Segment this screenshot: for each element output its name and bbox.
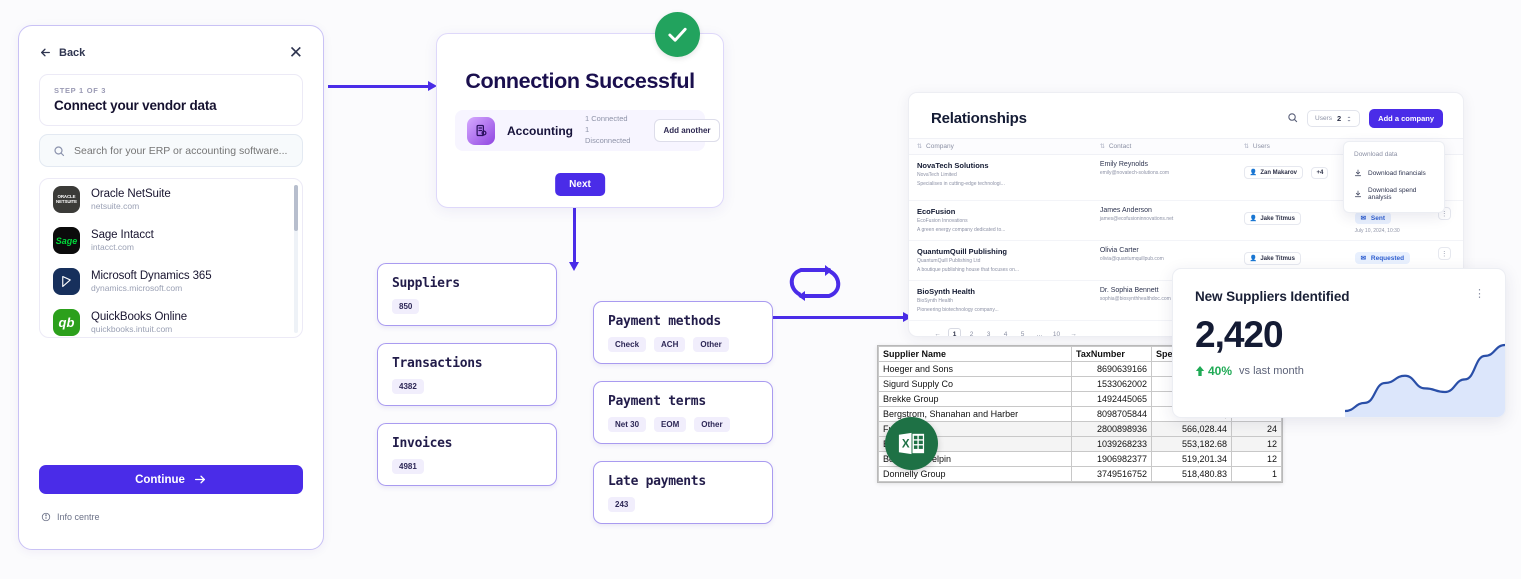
cell-spend[interactable]: 553,182.68 [1152,437,1232,452]
sheet-col-supplier-name[interactable]: Supplier Name [879,347,1072,362]
step-title: Connect your vendor data [54,98,288,113]
contact-name: James Anderson [1100,207,1228,214]
search-glyph [1287,112,1298,123]
next-button[interactable]: Next [555,173,605,196]
vendor-url: intacct.com [91,242,154,252]
back-button[interactable]: Back [39,46,85,59]
company-name: BioSynth Health [917,287,1084,296]
step-counter: STEP 1 OF 3 [54,86,288,95]
chip: Net 30 [608,417,646,432]
scrollbar-thumb[interactable] [294,185,298,231]
sheet-col-tax-number[interactable]: TaxNumber [1072,347,1152,362]
menu-item-label: Download financials [1368,170,1426,177]
accounting-app-icon [467,117,495,145]
page-prev-icon[interactable]: ← [931,328,944,337]
header-tools: Users 2 Add a company [1287,109,1443,128]
quickbooks-icon: qb [53,309,80,336]
connection-success-card: Connection Successful Accounting 1 Conne… [436,33,724,208]
page-10[interactable]: 10 [1050,328,1063,337]
company-desc: Pioneering biotechnology company... [917,307,1084,315]
user-pill[interactable]: 👤Jake Titmus [1244,252,1301,265]
kpi-title: New Suppliers Identified [1173,269,1505,304]
sage-icon: Sage [53,227,80,254]
excel-icon: X [885,417,938,470]
connector-success-to-cards [573,208,576,264]
arrow-right-icon [194,474,207,485]
column-header-users[interactable]: ⇅Users [1236,139,1347,155]
svg-text:X: X [902,437,910,450]
chip: 4382 [392,379,424,394]
vendor-name: QuickBooks Online [91,311,187,323]
list-scrollbar[interactable] [294,185,298,333]
cell-tax[interactable]: 3749516752 [1072,467,1152,482]
cell-spend[interactable]: 566,028.44 [1152,422,1232,437]
status-badge: ✉ Requested [1355,252,1411,264]
card-title: Late payments [608,474,758,489]
cell-spend[interactable]: 518,480.83 [1152,467,1232,482]
dynamics-glyph [59,274,74,289]
search-field[interactable] [39,134,303,167]
sage-mark: Sage [56,236,78,246]
chevron-updown-icon [1346,116,1352,122]
cell-company: BioSynth Health BioSynth Health Pioneeri… [909,281,1092,321]
step-banner: STEP 1 OF 3 Connect your vendor data [39,74,303,126]
add-another-button[interactable]: Add another [654,119,719,142]
excel-glyph: X [896,428,927,459]
chip: Other [693,337,728,352]
search-icon[interactable] [1287,110,1298,128]
contact-name: Emily Reynolds [1100,161,1228,168]
cell-users: 👤Zan Makarov +4 [1236,155,1347,201]
user-name: Zan Makarov [1260,170,1297,176]
sparkline-area [1345,345,1505,417]
company-legal: BioSynth Health [917,298,1084,306]
status-label: Sent [1371,215,1385,222]
cell-tax[interactable]: 1492445065 [1072,392,1152,407]
kpi-delta-value: 40% [1208,364,1232,378]
info-icon [41,512,51,522]
data-card-late-payments[interactable]: Late payments 243 [593,461,773,524]
contact-name: Olivia Carter [1100,247,1228,254]
sync-arrows-icon [787,260,843,306]
search-input[interactable] [74,145,289,157]
oracle-netsuite-icon: ORACLE NETSUITE [53,186,80,213]
kpi-delta-caption: vs last month [1239,365,1304,377]
person-icon: 👤 [1250,169,1257,176]
close-icon[interactable]: ✕ [289,44,303,61]
connected-count: 1 Connected [585,114,630,125]
download-menu-title: Download data [1344,148,1444,164]
menu-item-download-spend-analysis[interactable]: Download spend analysis [1344,182,1444,206]
connector-onboarding-to-success [328,85,432,88]
kpi-delta: 40% [1195,364,1232,378]
accounting-app-label: Accounting [507,124,573,138]
connected-app-row: Accounting 1 Connected 1 Disconnected Ad… [455,110,705,151]
arrow-left-icon [39,46,52,59]
table-row[interactable]: Donnelly Group3749516752518,480.831 [879,467,1282,482]
company-name: EcoFusion [917,207,1084,216]
page-5[interactable]: 5 [1016,328,1029,337]
cell-extra[interactable]: 12 [1232,452,1282,467]
onboarding-header: Back ✕ [19,26,323,69]
card-chips: 850 [392,299,542,314]
cell-tax[interactable]: 1039268233 [1072,437,1152,452]
chip: 4981 [392,459,424,474]
cell-tax[interactable]: 1533062002 [1072,377,1152,392]
chip: EOM [654,417,686,432]
card-chips: Check ACH Other [608,337,758,352]
download-icon [1354,190,1362,198]
contact-email: james@ecofusioninnovations.net [1100,216,1228,222]
status-date: July 10, 2024, 10:30 [1355,228,1422,234]
cell-spend[interactable]: 519,201.34 [1152,452,1232,467]
chip: 850 [392,299,419,314]
list-item[interactable]: qb QuickBooks Online quickbooks.intuit.c… [40,302,302,338]
card-chips: 4981 [392,459,542,474]
company-desc: A green energy company dedicated to... [917,227,1084,235]
contact-email: emily@novatech-solutions.com [1100,170,1228,176]
card-title: Suppliers [392,276,542,291]
vendor-url: netsuite.com [91,201,171,211]
company-name: QuantumQuill Publishing [917,247,1084,256]
card-chips: 243 [608,497,758,512]
cell-extra[interactable]: 12 [1232,437,1282,452]
onboarding-panel: Back ✕ STEP 1 OF 3 Connect your vendor d… [18,25,324,550]
card-chips: 4382 [392,379,542,394]
menu-item-label: Download spend analysis [1368,187,1434,201]
cell-contact: James Anderson james@ecofusioninnovation… [1092,201,1236,241]
table-row[interactable]: Fu2800898936566,028.4424 [879,422,1282,437]
menu-item-download-financials[interactable]: Download financials [1344,164,1444,182]
card-title: Payment terms [608,394,758,409]
cell-tax[interactable]: 8098705844 [1072,407,1152,422]
accounting-glyph [474,123,489,138]
page-2[interactable]: 2 [965,328,978,337]
vendor-name: Oracle NetSuite [91,188,171,200]
column-label: Users [1253,143,1270,150]
users-filter-count: 2 [1337,114,1341,123]
connector-cards-to-relationships [773,316,909,319]
data-card-suppliers[interactable]: Suppliers 850 [377,263,557,326]
add-company-button[interactable]: Add a company [1369,109,1443,128]
card-title: Transactions [392,356,542,371]
page-next-icon[interactable]: → [1067,328,1080,337]
chip: Check [608,337,646,352]
column-header-contact[interactable]: ⇅Contact [1092,139,1236,155]
chip: Other [694,417,729,432]
page-4[interactable]: 4 [999,328,1012,337]
vendor-url: dynamics.microsoft.com [91,283,212,293]
vendor-url: quickbooks.intuit.com [91,324,187,334]
disconnected-count: 1 Disconnected [585,125,630,147]
status-badge: ✉ Sent [1355,212,1391,224]
cell-extra[interactable]: 24 [1232,422,1282,437]
vendor-name: Sage Intacct [91,229,154,241]
user-pill[interactable]: 👤Jake Titmus [1244,212,1301,225]
table-row[interactable]: Bo y and Koelpin1906982377519,201.3412 [879,452,1282,467]
check-glyph [666,23,689,46]
connection-counts: 1 Connected 1 Disconnected [585,114,630,147]
chip: 243 [608,497,635,512]
card-title: Payment methods [608,314,758,329]
page-ellipsis: ... [1033,328,1046,337]
download-data-menu[interactable]: Download data Download financials Downlo… [1343,141,1445,213]
info-centre-label: Info centre [57,512,100,522]
page-1[interactable]: 1 [948,328,961,337]
person-icon: 👤 [1250,255,1257,262]
data-card-payment-terms[interactable]: Payment terms Net 30 EOM Other [593,381,773,444]
info-centre-link[interactable]: Info centre [41,512,100,522]
cell-contact: Emily Reynolds emily@novatech-solutions.… [1092,155,1236,201]
cell-company: NovaTech Solutions NovaTech Limited Spec… [909,155,1092,201]
list-item[interactable]: ORACLE NETSUITE Oracle NetSuite netsuite… [40,179,302,220]
kpi-card-new-suppliers: New Suppliers Identified ⋮ 2,420 40% vs … [1172,268,1506,418]
cell-name[interactable]: Hoeger and Sons [879,362,1072,377]
card-chips: Net 30 EOM Other [608,417,758,432]
status-label: Requested [1371,255,1404,262]
column-label: Contact [1109,143,1131,150]
oracle-netsuite-mark: ORACLE NETSUITE [53,195,80,204]
page-3[interactable]: 3 [982,328,995,337]
list-item[interactable]: Microsoft Dynamics 365 dynamics.microsof… [40,261,302,302]
card-title: Invoices [392,436,542,451]
company-legal: QuantumQuill Publishing Ltd [917,258,1084,266]
data-card-invoices[interactable]: Invoices 4981 [377,423,557,486]
sort-icon: ⇅ [917,143,922,150]
cell-tax[interactable]: 1906982377 [1072,452,1152,467]
chip: ACH [654,337,685,352]
sparkline-chart [1345,339,1505,417]
company-desc: Specialises in cutting-edge technologi..… [917,181,1084,189]
row-menu-icon[interactable]: ⋮ [1438,247,1451,260]
vendor-name: Microsoft Dynamics 365 [91,270,212,282]
download-icon [1354,169,1362,177]
contact-email: olivia@quantumquillpub.com [1100,256,1228,262]
continue-button[interactable]: Continue [39,465,303,494]
cell-users: 👤Jake Titmus [1236,201,1347,241]
extra-users-badge[interactable]: +4 [1311,167,1328,179]
microsoft-dynamics-icon [53,268,80,295]
column-label: Company [926,143,954,150]
company-name: NovaTech Solutions [917,161,1084,170]
data-card-transactions[interactable]: Transactions 4382 [377,343,557,406]
cell-company: QuantumQuill Publishing QuantumQuill Pub… [909,241,1092,281]
cell-company: EcoFusion EcoFusion Innovations A green … [909,201,1092,241]
data-card-payment-methods[interactable]: Payment methods Check ACH Other [593,301,773,364]
company-legal: NovaTech Limited [917,172,1084,180]
relationships-header: Relationships Users 2 Add a company [909,93,1463,138]
company-legal: EcoFusion Innovations [917,218,1084,226]
user-pill[interactable]: 👤Zan Makarov [1244,166,1303,179]
kebab-menu-icon[interactable]: ⋮ [1474,291,1485,298]
sort-icon: ⇅ [1100,143,1105,150]
cell-tax[interactable]: 2800898936 [1072,422,1152,437]
continue-label: Continue [135,474,185,486]
sort-icon: ⇅ [1244,143,1249,150]
table-row[interactable]: B tke inc1039268233553,182.6812 [879,437,1282,452]
quickbooks-mark: qb [59,315,75,330]
connector-arrowhead-2 [569,262,579,271]
company-desc: A boutique publishing house that focuses… [917,267,1084,275]
arrow-up-icon [1195,365,1205,377]
page-title: Relationships [931,110,1027,127]
cell-name[interactable]: Sigurd Supply Co [879,377,1072,392]
list-item[interactable]: Sage Sage Intacct intacct.com [40,220,302,261]
user-name: Jake Titmus [1260,216,1295,222]
users-filter-label: Users [1315,115,1332,122]
cell-name[interactable]: Brekke Group [879,392,1072,407]
cell-tax[interactable]: 8690639166 [1072,362,1152,377]
back-label: Back [59,47,85,59]
cell-extra[interactable]: 1 [1232,467,1282,482]
users-filter[interactable]: Users 2 [1307,110,1360,127]
search-icon [53,145,65,157]
diagram-canvas: Back ✕ STEP 1 OF 3 Connect your vendor d… [0,0,1521,579]
success-check-icon [655,12,700,57]
person-icon: 👤 [1250,215,1257,222]
column-header-company[interactable]: ⇅Company [909,139,1092,155]
vendor-list[interactable]: ORACLE NETSUITE Oracle NetSuite netsuite… [39,178,303,338]
user-name: Jake Titmus [1260,256,1295,262]
